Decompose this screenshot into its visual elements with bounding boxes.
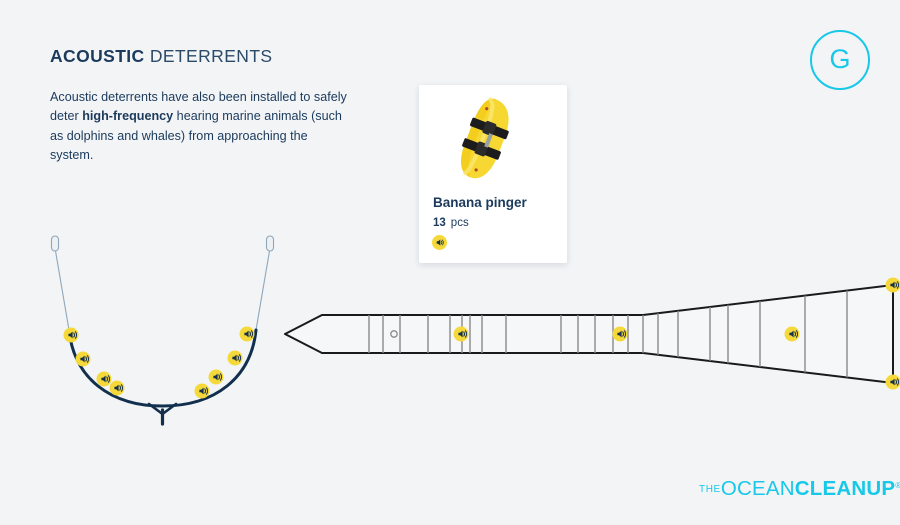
boom-pinger-marker <box>886 278 900 293</box>
poster-canvas: ACOUSTIC DETERRENTS Acoustic deterrents … <box>0 0 900 525</box>
u-barrier-pinger-marker <box>195 384 210 399</box>
logo-registered-mark: ® <box>895 481 900 490</box>
g-badge-letter: G <box>829 46 850 73</box>
description-paragraph: Acoustic deterrents have also been insta… <box>50 88 350 165</box>
letter-g-circle-icon: G <box>810 30 870 90</box>
boom-pinger-marker <box>785 327 800 342</box>
u-barrier-pinger-marker <box>97 372 112 387</box>
u-barrier-pinger-marker <box>64 328 79 343</box>
logo-cleanup: CLEANUP <box>795 477 896 500</box>
u-shaped-barrier-top-view <box>30 228 295 428</box>
speaker-sound-icon <box>432 235 447 250</box>
product-card[interactable]: Banana pinger 13pcs <box>419 85 567 263</box>
u-barrier-pinger-marker <box>228 351 243 366</box>
boom-pinger-marker <box>886 375 900 390</box>
logo-ocean: OCEAN <box>721 477 795 500</box>
u-barrier-pinger-marker <box>76 352 91 367</box>
barrier-side-elevation <box>275 265 900 400</box>
boom-pinger-marker <box>613 327 628 342</box>
page-title-light: DETERRENTS <box>145 46 273 66</box>
card-quantity: 13pcs <box>433 217 469 229</box>
u-barrier-pinger-marker <box>209 370 224 385</box>
logo-the: THE <box>699 484 721 495</box>
banana-pinger-device-image <box>419 91 567 189</box>
u-barrier-pinger-marker <box>240 327 255 342</box>
card-quantity-unit: pcs <box>451 217 469 229</box>
description-emphasis: high-frequency <box>82 109 173 123</box>
the-ocean-cleanup-logo: THEOCEANCLEANUP® <box>699 479 900 500</box>
page-title-strong: ACOUSTIC <box>50 46 145 66</box>
page-title: ACOUSTIC DETERRENTS <box>50 46 272 67</box>
card-quantity-value: 13 <box>433 217 446 229</box>
boom-pinger-marker <box>454 327 469 342</box>
card-title: Banana pinger <box>433 195 527 210</box>
u-barrier-pinger-marker <box>110 381 125 396</box>
